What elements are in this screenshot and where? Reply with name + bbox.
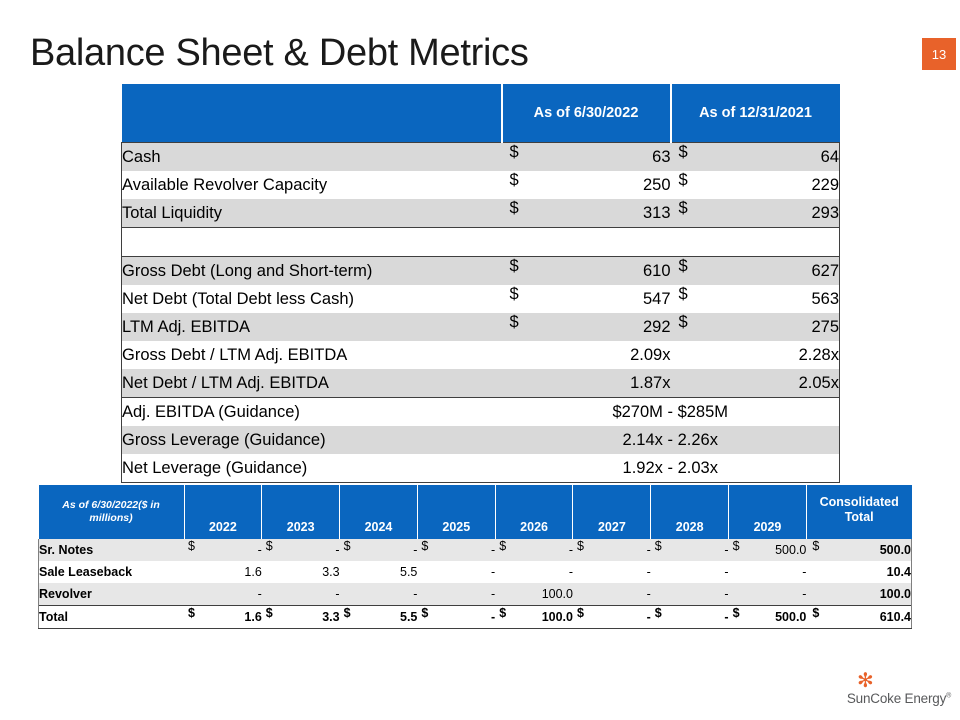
value-text: 610.4 — [880, 610, 911, 624]
spacer-cell — [671, 228, 840, 257]
row-label: Cash — [122, 143, 502, 172]
row-label: Sr. Notes — [39, 539, 185, 561]
table-row: Revolver - - - - 100.0 - - - 100.0 — [39, 583, 912, 606]
row-value-2022: $ 250 — [502, 171, 671, 199]
cell-2022: - — [184, 583, 262, 606]
value-text: 500.0 — [880, 543, 911, 557]
cell-2029: $500.0 — [729, 606, 807, 629]
value-text: 563 — [811, 290, 839, 308]
currency-symbol: $ — [344, 606, 351, 620]
metrics-table-header: As of 6/30/2022 As of 12/31/2021 — [122, 84, 840, 143]
cell-2029: - — [729, 583, 807, 606]
maturity-table-body: Sr. Notes $- $- $- $- $- $- $- $500.0 $5… — [39, 539, 912, 629]
table-row: Available Revolver Capacity $ 250 $ 229 — [122, 171, 840, 199]
currency-symbol: $ — [679, 285, 688, 304]
row-value-2022: $ 610 — [502, 257, 671, 286]
value-text: 100.0 — [542, 587, 573, 601]
cell-2023: $- — [262, 539, 340, 561]
table-header-row: As of 6/30/2022($ in millions) 2022 2023… — [39, 485, 912, 539]
header-cell-as-of-2021: As of 12/31/2021 — [671, 84, 840, 143]
cell-consolidated-total: 10.4 — [806, 561, 911, 583]
table-row: Net Debt / LTM Adj. EBITDA 1.87x 2.05x — [122, 369, 840, 398]
cell-2022: 1.6 — [184, 561, 262, 583]
header-cell-consolidated-total: Consolidated Total — [806, 485, 911, 539]
value-text: 2.28x — [799, 346, 839, 364]
table-row: Adj. EBITDA (Guidance) $270M - $285M — [122, 398, 840, 427]
spacer-cell — [122, 228, 502, 257]
row-value-guidance: 1.92x - 2.03x — [502, 454, 840, 483]
cell-2027: - — [573, 583, 651, 606]
row-value-2021: $ 64 — [671, 143, 840, 172]
balance-sheet-metrics-table: As of 6/30/2022 As of 12/31/2021 Cash $ … — [121, 84, 840, 483]
cell-consolidated-total: $610.4 — [806, 606, 911, 629]
currency-symbol: $ — [679, 257, 688, 276]
currency-symbol: $ — [510, 171, 519, 190]
header-cell-2024: 2024 — [340, 485, 418, 539]
cell-2026: $- — [495, 539, 573, 561]
currency-symbol: $ — [266, 539, 273, 553]
currency-symbol: $ — [266, 606, 273, 620]
currency-symbol: $ — [655, 539, 662, 553]
value-text: 64 — [821, 148, 839, 166]
cell-consolidated-total: 100.0 — [806, 583, 911, 606]
cell-2028: - — [651, 583, 729, 606]
row-value-guidance: $270M - $285M — [502, 398, 840, 427]
table-row: Gross Leverage (Guidance) 2.14x - 2.26x — [122, 426, 840, 454]
currency-symbol: $ — [421, 606, 428, 620]
row-value-2021: $ 627 — [671, 257, 840, 286]
row-label: Net Debt (Total Debt less Cash) — [122, 285, 502, 313]
section-spacer-row — [122, 228, 840, 257]
row-label: Gross Debt (Long and Short-term) — [122, 257, 502, 286]
currency-symbol: $ — [499, 606, 506, 620]
value-text: 1.6 — [244, 610, 261, 624]
currency-symbol: $ — [679, 143, 688, 162]
company-logo: ✻ SunCoke Energy® — [843, 672, 955, 708]
currency-symbol: $ — [344, 539, 351, 553]
row-value-2022: 1.87x — [502, 369, 671, 398]
page-title: Balance Sheet & Debt Metrics — [30, 32, 529, 75]
currency-symbol: $ — [499, 539, 506, 553]
currency-symbol: $ — [510, 313, 519, 332]
value-text: 1.6 — [244, 565, 261, 579]
sun-icon: ✻ — [843, 672, 955, 690]
header-cell-2027: 2027 — [573, 485, 651, 539]
table-row: Net Debt (Total Debt less Cash) $ 547 $ … — [122, 285, 840, 313]
value-text: 100.0 — [880, 587, 911, 601]
row-value-2021: $ 293 — [671, 199, 840, 228]
currency-symbol: $ — [655, 606, 662, 620]
table-row: Sr. Notes $- $- $- $- $- $- $- $500.0 $5… — [39, 539, 912, 561]
cell-2028: - — [651, 561, 729, 583]
header-cell-as-of-2022: As of 6/30/2022 — [502, 84, 671, 143]
currency-symbol: $ — [812, 606, 819, 620]
currency-symbol: $ — [679, 313, 688, 332]
value-text: 229 — [811, 176, 839, 194]
cell-2024: $5.5 — [340, 606, 418, 629]
row-value-guidance: 2.14x - 2.26x — [502, 426, 840, 454]
currency-symbol: $ — [188, 539, 195, 553]
cell-2025: - — [417, 583, 495, 606]
header-cell-label — [122, 84, 502, 143]
table-row: Total Liquidity $ 313 $ 293 — [122, 199, 840, 228]
cell-consolidated-total: $500.0 — [806, 539, 911, 561]
row-label: Gross Leverage (Guidance) — [122, 426, 502, 454]
table-row: Gross Debt / LTM Adj. EBITDA 2.09x 2.28x — [122, 341, 840, 369]
logo-text: SunCoke Energy — [847, 691, 946, 706]
value-text: 313 — [643, 204, 671, 222]
header-cell-as-of: As of 6/30/2022($ in millions) — [39, 485, 185, 539]
cell-2023: 3.3 — [262, 561, 340, 583]
row-label: Net Leverage (Guidance) — [122, 454, 502, 483]
table-row: LTM Adj. EBITDA $ 292 $ 275 — [122, 313, 840, 341]
cell-2023: $3.3 — [262, 606, 340, 629]
cell-2027: - — [573, 561, 651, 583]
header-cell-2023: 2023 — [262, 485, 340, 539]
value-text: 500.0 — [775, 610, 806, 624]
cell-2024: 5.5 — [340, 561, 418, 583]
trademark-symbol: ® — [946, 693, 951, 700]
currency-symbol: $ — [188, 606, 195, 620]
cell-2026: 100.0 — [495, 583, 573, 606]
currency-symbol: $ — [510, 199, 519, 218]
value-text: 292 — [643, 318, 671, 336]
header-cell-2025: 2025 — [417, 485, 495, 539]
row-value-2021: $ 563 — [671, 285, 840, 313]
currency-symbol: $ — [812, 539, 819, 553]
value-text: 2.09x — [630, 346, 670, 364]
value-text: 500.0 — [775, 543, 806, 557]
cell-2024: - — [340, 583, 418, 606]
cell-2023: - — [262, 583, 340, 606]
row-label: Adj. EBITDA (Guidance) — [122, 398, 502, 427]
row-value-2022: $ 547 — [502, 285, 671, 313]
currency-symbol: $ — [577, 539, 584, 553]
cell-2029: - — [729, 561, 807, 583]
value-text: 293 — [811, 204, 839, 222]
table-row: Cash $ 63 $ 64 — [122, 143, 840, 172]
currency-symbol: $ — [733, 606, 740, 620]
row-value-2021: 2.05x — [671, 369, 840, 398]
value-text: 10.4 — [887, 565, 911, 579]
currency-symbol: $ — [679, 199, 688, 218]
value-text: 627 — [811, 262, 839, 280]
row-value-2021: 2.28x — [671, 341, 840, 369]
cell-2026: $100.0 — [495, 606, 573, 629]
table-row: Net Leverage (Guidance) 1.92x - 2.03x — [122, 454, 840, 483]
cell-2027: $- — [573, 606, 651, 629]
header-cell-2022: 2022 — [184, 485, 262, 539]
row-label: Total — [39, 606, 185, 629]
row-value-2022: $ 63 — [502, 143, 671, 172]
metrics-table-body: Cash $ 63 $ 64 Available Revolver Capaci… — [122, 143, 840, 483]
table-row: Sale Leaseback 1.6 3.3 5.5 - - - - - 10.… — [39, 561, 912, 583]
value-text: 1.87x — [630, 374, 670, 392]
currency-symbol: $ — [421, 539, 428, 553]
cell-2028: $- — [651, 539, 729, 561]
cell-2022: $1.6 — [184, 606, 262, 629]
cell-2029: $500.0 — [729, 539, 807, 561]
cell-2027: $- — [573, 539, 651, 561]
cell-2022: $- — [184, 539, 262, 561]
cell-2025: $- — [417, 606, 495, 629]
row-value-2022: 2.09x — [502, 341, 671, 369]
debt-maturity-table: As of 6/30/2022($ in millions) 2022 2023… — [38, 485, 912, 629]
row-value-2021: $ 275 — [671, 313, 840, 341]
value-text: 100.0 — [542, 610, 573, 624]
row-value-2022: $ 292 — [502, 313, 671, 341]
value-text: 3.3 — [322, 610, 339, 624]
cell-2028: $- — [651, 606, 729, 629]
header-cell-2028: 2028 — [651, 485, 729, 539]
currency-symbol: $ — [679, 171, 688, 190]
row-label: Gross Debt / LTM Adj. EBITDA — [122, 341, 502, 369]
value-text: 63 — [652, 148, 670, 166]
cell-2024: $- — [340, 539, 418, 561]
header-cell-2026: 2026 — [495, 485, 573, 539]
value-text: 5.5 — [400, 565, 417, 579]
cell-2026: - — [495, 561, 573, 583]
currency-symbol: $ — [577, 606, 584, 620]
row-value-2021: $ 229 — [671, 171, 840, 199]
row-label: Net Debt / LTM Adj. EBITDA — [122, 369, 502, 398]
spacer-cell — [502, 228, 671, 257]
row-label: Total Liquidity — [122, 199, 502, 228]
currency-symbol: $ — [733, 539, 740, 553]
currency-symbol: $ — [510, 257, 519, 276]
value-text: 5.5 — [400, 610, 417, 624]
currency-symbol: $ — [510, 285, 519, 304]
cell-2025: - — [417, 561, 495, 583]
value-text: 547 — [643, 290, 671, 308]
currency-symbol: $ — [510, 143, 519, 162]
table-row-total: Total $1.6 $3.3 $5.5 $- $100.0 $- $- $50… — [39, 606, 912, 629]
value-text: 275 — [811, 318, 839, 336]
table-header-row: As of 6/30/2022 As of 12/31/2021 — [122, 84, 840, 143]
row-label: Revolver — [39, 583, 185, 606]
value-text: 250 — [643, 176, 671, 194]
row-label: Available Revolver Capacity — [122, 171, 502, 199]
cell-2025: $- — [417, 539, 495, 561]
maturity-table-header: As of 6/30/2022($ in millions) 2022 2023… — [39, 485, 912, 539]
row-label: LTM Adj. EBITDA — [122, 313, 502, 341]
row-label: Sale Leaseback — [39, 561, 185, 583]
logo-wordmark: SunCoke Energy® — [847, 691, 951, 706]
table-row: Gross Debt (Long and Short-term) $ 610 $… — [122, 257, 840, 286]
header-cell-2029: 2029 — [729, 485, 807, 539]
row-value-2022: $ 313 — [502, 199, 671, 228]
page-number-badge: 13 — [922, 38, 956, 70]
value-text: 610 — [643, 262, 671, 280]
value-text: 3.3 — [322, 565, 339, 579]
value-text: 2.05x — [799, 374, 839, 392]
